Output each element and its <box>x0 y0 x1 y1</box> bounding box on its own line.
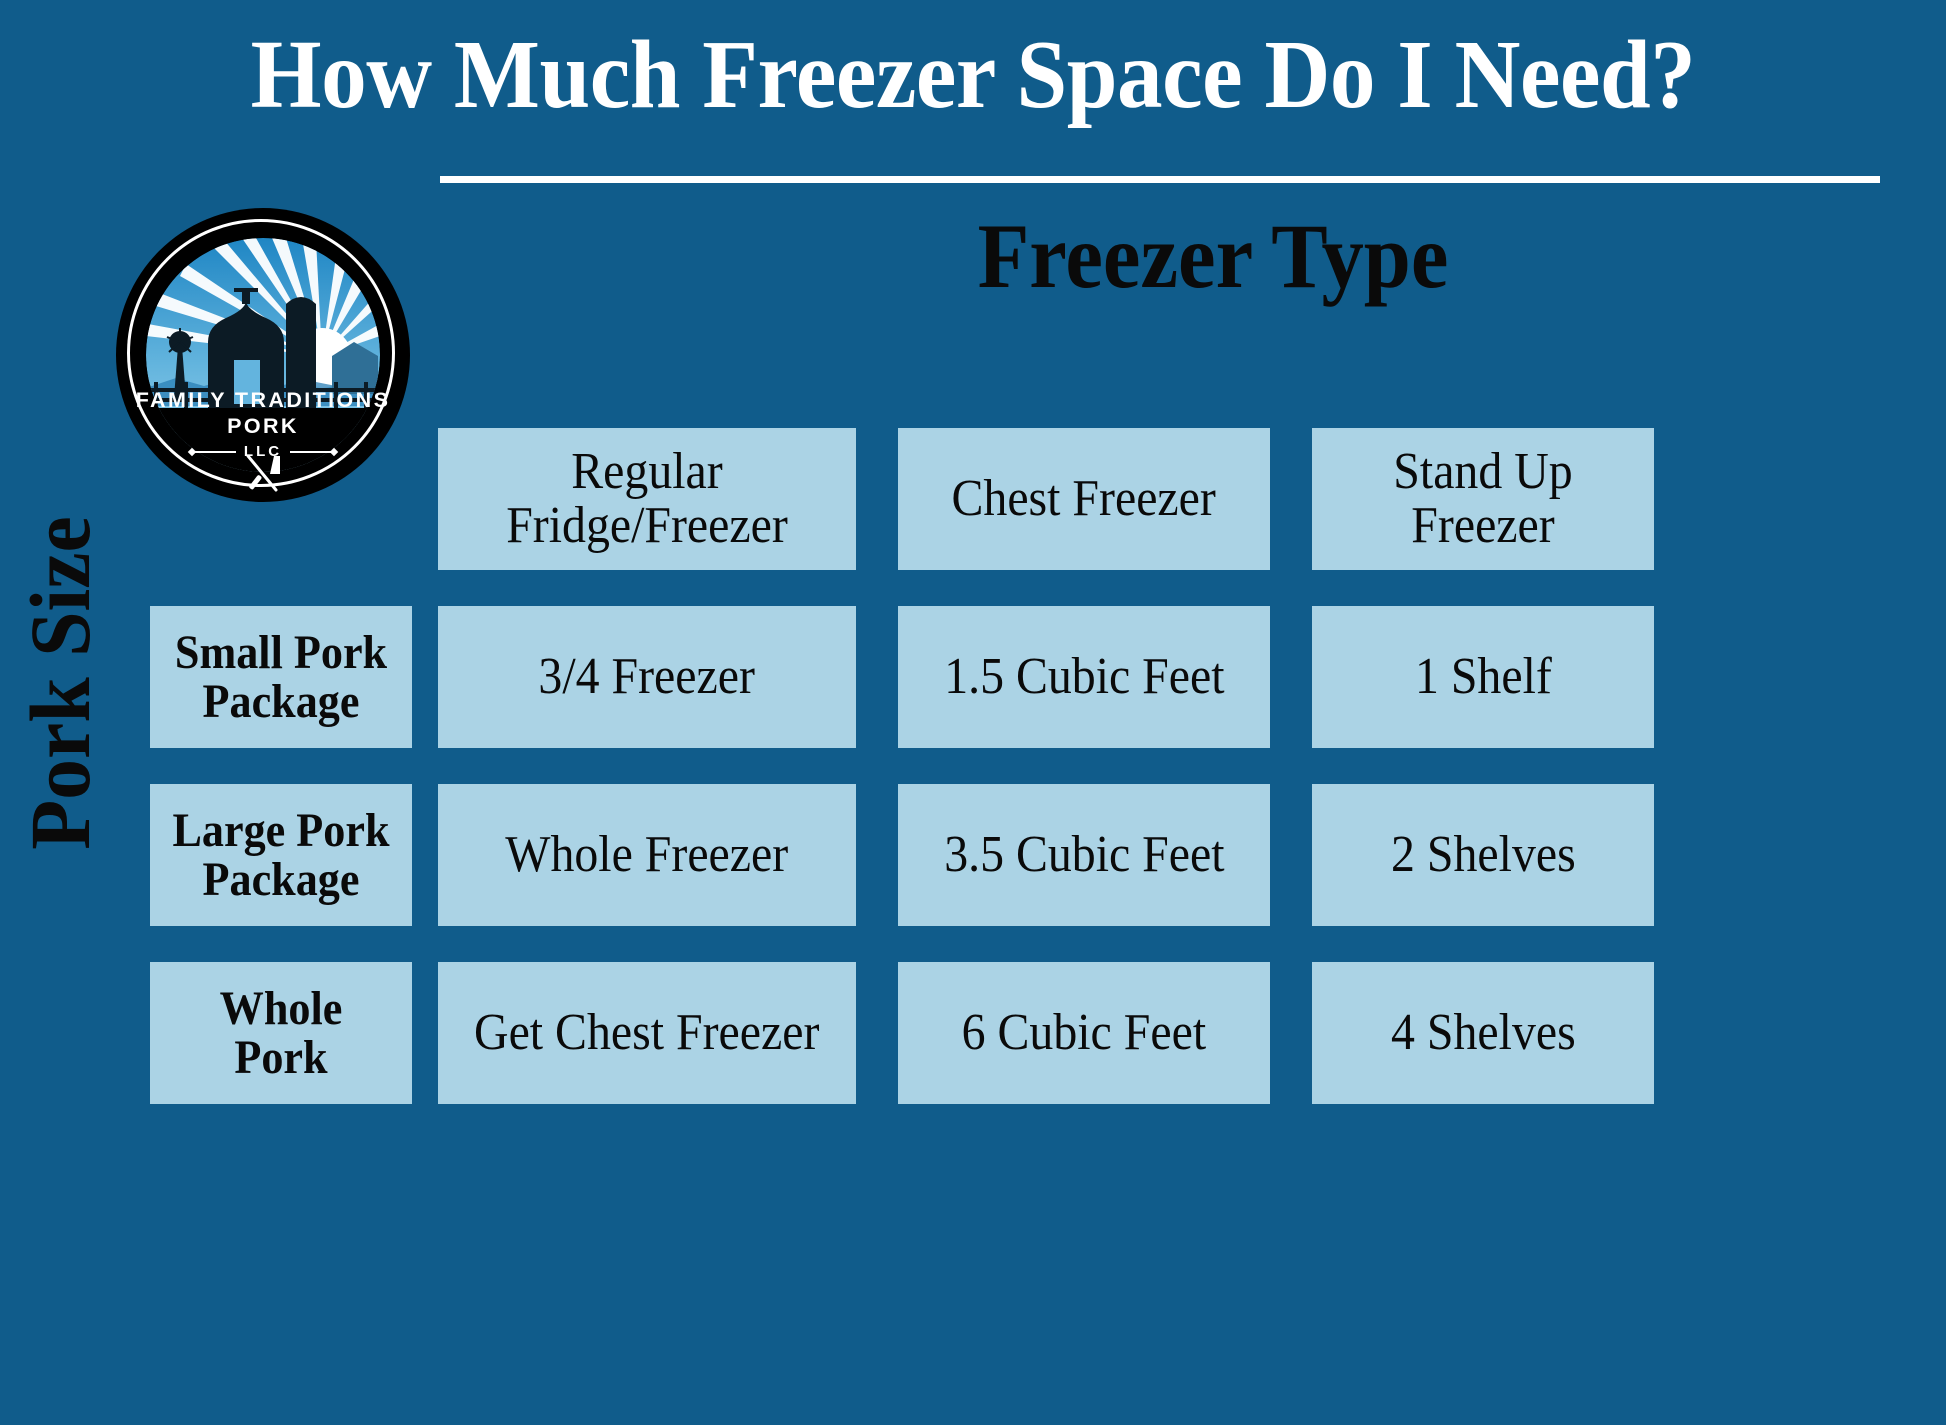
row-header-small-pork-package: Small Pork Package <box>150 606 412 748</box>
cell-small-standup: 1 Shelf <box>1312 606 1654 748</box>
cell-whole-chest: 6 Cubic Feet <box>898 962 1270 1104</box>
table-row: Large Pork Package Whole Freezer 3.5 Cub… <box>150 784 1886 926</box>
table-corner-cell <box>150 428 412 570</box>
title-divider <box>440 176 1880 183</box>
row-axis-title: Pork Size <box>17 389 103 978</box>
cell-large-chest: 3.5 Cubic Feet <box>898 784 1270 926</box>
comparison-table: Regular Fridge/Freezer Chest Freezer Sta… <box>150 428 1886 1004</box>
title-block: How Much Freezer Space Do I Need? <box>0 0 1946 196</box>
table-header-row: Regular Fridge/Freezer Chest Freezer Sta… <box>150 428 1886 570</box>
column-header-regular-fridge-freezer: Regular Fridge/Freezer <box>438 428 856 570</box>
cell-small-regular: 3/4 Freezer <box>438 606 856 748</box>
column-header-chest-freezer: Chest Freezer <box>898 428 1270 570</box>
cell-whole-standup: 4 Shelves <box>1312 962 1654 1104</box>
table-row: Whole Pork Get Chest Freezer 6 Cubic Fee… <box>150 962 1886 1104</box>
cell-large-regular: Whole Freezer <box>438 784 856 926</box>
page-title: How Much Freezer Space Do I Need? <box>58 24 1887 126</box>
row-header-whole-pork: Whole Pork <box>150 962 412 1104</box>
cell-whole-regular: Get Chest Freezer <box>438 962 856 1104</box>
row-header-large-pork-package: Large Pork Package <box>150 784 412 926</box>
cell-small-chest: 1.5 Cubic Feet <box>898 606 1270 748</box>
table-row: Small Pork Package 3/4 Freezer 1.5 Cubic… <box>150 606 1886 748</box>
logo-line-1: FAMILY TRADITIONS <box>116 390 410 412</box>
column-axis-title: Freezer Type <box>594 210 1832 302</box>
column-header-stand-up-freezer: Stand Up Freezer <box>1312 428 1654 570</box>
cell-large-standup: 2 Shelves <box>1312 784 1654 926</box>
